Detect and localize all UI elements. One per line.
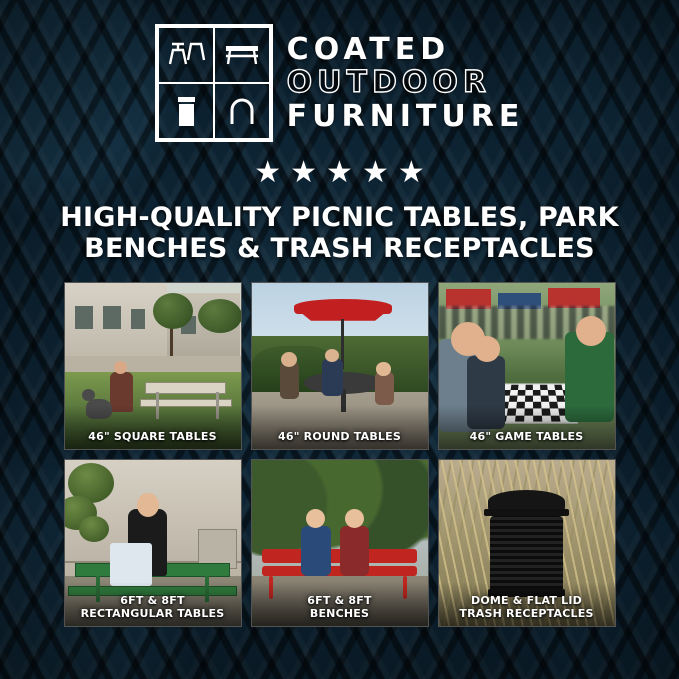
star-rating: ★ ★ ★ ★ ★ — [254, 158, 425, 188]
trash-receptacle-photo: DOME & FLAT LID TRASH RECEPTACLES — [439, 460, 615, 626]
picnic-table-icon — [158, 27, 214, 83]
tile-trash-receptacles[interactable]: DOME & FLAT LID TRASH RECEPTACLES — [438, 459, 616, 627]
rectangular-table-photo: 6FT & 8FT RECTANGULAR TABLES — [65, 460, 241, 626]
round-table-umbrella-photo: 46" ROUND TABLES — [252, 283, 428, 449]
tile-caption: 6FT & 8FT BENCHES — [252, 595, 428, 619]
page-title: HIGH-QUALITY PICNIC TABLES, PARK BENCHES… — [60, 202, 619, 265]
tile-caption-line-2: RECTANGULAR TABLES — [81, 607, 225, 620]
tile-benches[interactable]: 6FT & 8FT BENCHES — [251, 459, 429, 627]
bench-icon — [214, 27, 270, 83]
brand-logo: COATED OUTDOOR FURNITURE — [155, 24, 525, 142]
tile-round-tables[interactable]: 46" ROUND TABLES — [251, 282, 429, 450]
wordmark-line-3: FURNITURE — [287, 101, 525, 132]
tile-caption-line-1: DOME & FLAT LID — [471, 594, 582, 607]
arch-bench-icon — [214, 83, 270, 139]
tile-caption: 46" SQUARE TABLES — [65, 431, 241, 443]
tile-caption-line-2: BENCHES — [310, 607, 369, 620]
game-table-checkerboard-photo: 46" GAME TABLES — [439, 283, 615, 449]
square-table-lawn-photo: 46" SQUARE TABLES — [65, 283, 241, 449]
tile-caption: DOME & FLAT LID TRASH RECEPTACLES — [439, 595, 615, 619]
park-bench-kids-photo: 6FT & 8FT BENCHES — [252, 460, 428, 626]
tile-caption: 46" GAME TABLES — [439, 431, 615, 443]
brand-wordmark: COATED OUTDOOR FURNITURE — [287, 34, 525, 132]
star-icon-3: ★ — [326, 158, 353, 188]
tile-rectangular-tables[interactable]: 6FT & 8FT RECTANGULAR TABLES — [64, 459, 242, 627]
tile-caption-line-1: 6FT & 8FT — [120, 594, 184, 607]
tile-game-tables[interactable]: 46" GAME TABLES — [438, 282, 616, 450]
star-icon-5: ★ — [398, 158, 425, 188]
trash-receptacle-icon — [158, 83, 214, 139]
tile-square-tables[interactable]: 46" SQUARE TABLES — [64, 282, 242, 450]
tile-caption: 46" ROUND TABLES — [252, 431, 428, 443]
star-icon-1: ★ — [254, 158, 281, 188]
product-category-grid: 46" SQUARE TABLES — [64, 282, 616, 627]
star-icon-4: ★ — [362, 158, 389, 188]
headline-line-2: BENCHES & TRASH RECEPTACLES — [60, 233, 619, 264]
wordmark-line-2: OUTDOOR — [287, 67, 525, 98]
star-icon-2: ★ — [290, 158, 317, 188]
tile-caption: 6FT & 8FT RECTANGULAR TABLES — [65, 595, 241, 619]
logo-mark-icon — [155, 24, 273, 142]
wordmark-line-1: COATED — [287, 34, 525, 65]
headline-line-1: HIGH-QUALITY PICNIC TABLES, PARK — [60, 202, 619, 233]
tile-caption-line-1: 6FT & 8FT — [307, 594, 371, 607]
tile-caption-line-2: TRASH RECEPTACLES — [459, 607, 593, 620]
product-poster: COATED OUTDOOR FURNITURE ★ ★ ★ ★ ★ HIGH-… — [0, 0, 679, 679]
poster-content: COATED OUTDOOR FURNITURE ★ ★ ★ ★ ★ HIGH-… — [0, 0, 679, 679]
